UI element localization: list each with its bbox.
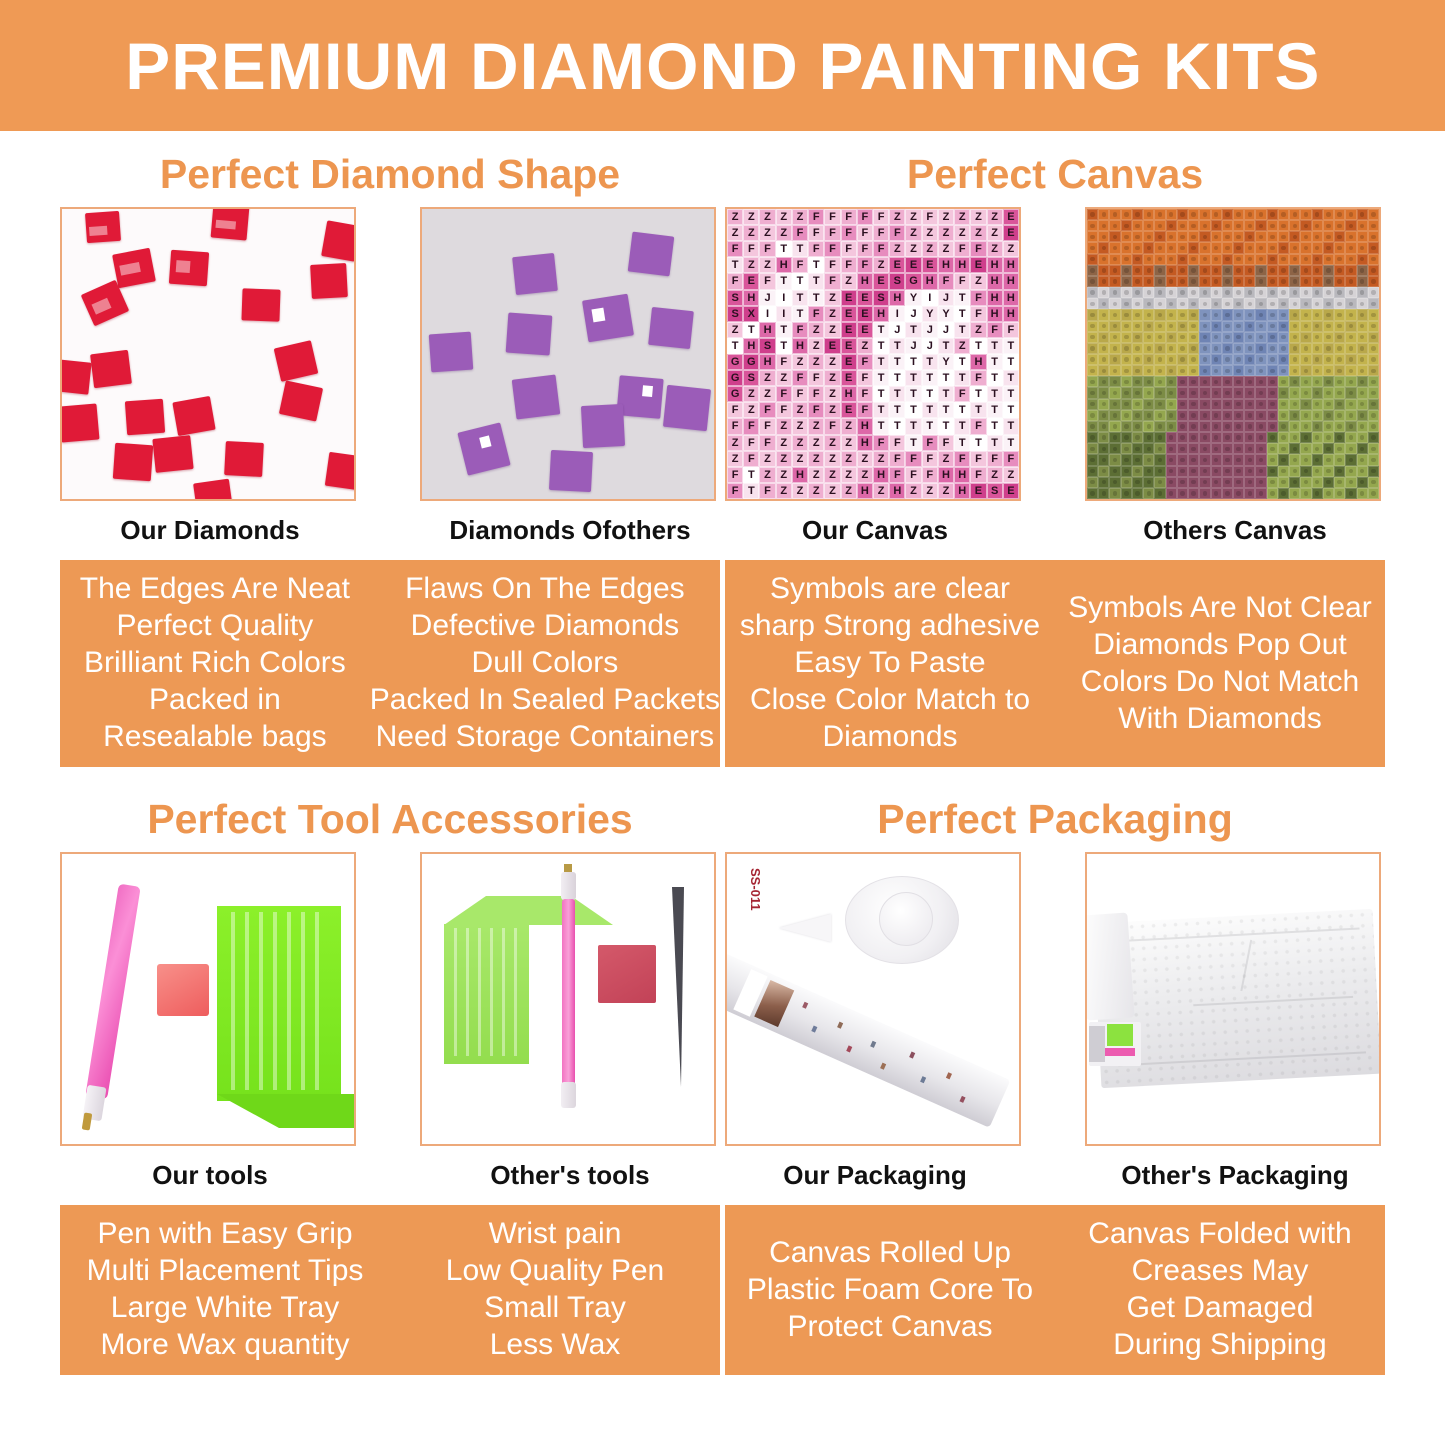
canvas-symbol-cell: Z	[792, 451, 808, 467]
canvas-symbol-cell: F	[970, 306, 986, 322]
muddy-canvas-cell	[1222, 265, 1233, 276]
muddy-canvas-cell	[1368, 209, 1379, 220]
muddy-canvas-cell	[1087, 421, 1098, 432]
muddy-canvas-cell	[1255, 432, 1266, 443]
canvas-symbol-cell: Z	[857, 451, 873, 467]
muddy-canvas-cell	[1199, 477, 1210, 488]
canvas-symbol-cell: Z	[954, 338, 970, 354]
muddy-canvas-cell	[1278, 220, 1289, 231]
muddy-canvas-cell	[1143, 410, 1154, 421]
muddy-canvas-cell	[1166, 287, 1177, 298]
muddy-canvas-cell	[1323, 209, 1334, 220]
muddy-canvas-cell	[1154, 488, 1165, 499]
canvas-symbol-cell: F	[954, 386, 970, 402]
muddy-canvas-cell	[1132, 254, 1143, 265]
muddy-canvas-cell	[1132, 209, 1143, 220]
muddy-canvas-cell	[1222, 421, 1233, 432]
muddy-canvas-cell	[1121, 254, 1132, 265]
canvas-symbol-cell: T	[970, 435, 986, 451]
canvas-symbol-cell: T	[938, 370, 954, 386]
canvas-symbol-cell: T	[954, 354, 970, 370]
desc-col-ours: The Edges Are Neat Perfect Quality Brill…	[60, 570, 370, 755]
muddy-canvas-cell	[1255, 443, 1266, 454]
canvas-symbol-cell: Z	[970, 209, 986, 225]
muddy-canvas-cell	[1244, 298, 1255, 309]
muddy-canvas-cell	[1345, 265, 1356, 276]
muddy-canvas-cell	[1289, 265, 1300, 276]
muddy-canvas-cell	[1289, 421, 1300, 432]
canvas-symbol-cell: Z	[938, 241, 954, 257]
desc-line: Canvas Folded with	[1055, 1215, 1385, 1252]
canvas-symbol-cell: T	[743, 467, 759, 483]
muddy-canvas-cell	[1368, 454, 1379, 465]
muddy-canvas-cell	[1244, 399, 1255, 410]
muddy-canvas-cell	[1368, 254, 1379, 265]
muddy-canvas-cell	[1121, 365, 1132, 376]
muddy-canvas-cell	[1255, 298, 1266, 309]
canvas-symbol-cell: F	[905, 467, 921, 483]
canvas-symbol-cell: I	[776, 290, 792, 306]
muddy-canvas-cell	[1334, 276, 1345, 287]
canvas-symbol-cell: Z	[759, 467, 775, 483]
canvas-symbol-cell: F	[970, 418, 986, 434]
canvas-symbol-cell: Z	[824, 483, 840, 499]
red-drill	[90, 350, 132, 388]
muddy-canvas-cell	[1098, 321, 1109, 332]
muddy-canvas-cell	[1255, 376, 1266, 387]
muddy-canvas-cell	[1154, 265, 1165, 276]
muddy-canvas-cell	[1323, 443, 1334, 454]
muddy-canvas-cell	[1323, 376, 1334, 387]
muddy-canvas-cell	[1121, 376, 1132, 387]
canvas-symbol-cell: T	[743, 483, 759, 499]
muddy-canvas-cell	[1300, 410, 1311, 421]
muddy-canvas-cell	[1154, 309, 1165, 320]
muddy-canvas-cell	[1098, 354, 1109, 365]
photo-others-canvas	[1085, 207, 1381, 501]
muddy-canvas-cell	[1109, 488, 1120, 499]
canvas-symbol-cell: Z	[824, 451, 840, 467]
canvas-symbol-cell: Z	[792, 209, 808, 225]
muddy-canvas-cell	[1188, 220, 1199, 231]
muddy-symbol-grid	[1087, 209, 1379, 499]
muddy-canvas-cell	[1244, 443, 1255, 454]
muddy-canvas-cell	[1267, 488, 1278, 499]
muddy-canvas-cell	[1188, 254, 1199, 265]
muddy-canvas-cell	[1166, 220, 1177, 231]
canvas-symbol-cell: J	[905, 306, 921, 322]
muddy-canvas-cell	[1109, 387, 1120, 398]
canvas-symbol-cell: T	[1003, 402, 1019, 418]
muddy-canvas-cell	[1312, 332, 1323, 343]
muddy-canvas-cell	[1132, 421, 1143, 432]
muddy-canvas-cell	[1300, 220, 1311, 231]
muddy-canvas-cell	[1278, 410, 1289, 421]
muddy-canvas-cell	[1244, 365, 1255, 376]
muddy-canvas-cell	[1109, 309, 1120, 320]
canvas-symbol-cell: Z	[970, 273, 986, 289]
muddy-canvas-cell	[1334, 209, 1345, 220]
canvas-symbol-cell: Z	[970, 225, 986, 241]
muddy-canvas-cell	[1278, 231, 1289, 242]
muddy-canvas-cell	[1267, 343, 1278, 354]
canvas-symbol-cell: S	[889, 273, 905, 289]
canvas-symbol-cell: E	[841, 290, 857, 306]
canvas-symbol-cell: Z	[938, 225, 954, 241]
muddy-canvas-cell	[1109, 209, 1120, 220]
canvas-symbol-cell: H	[987, 306, 1003, 322]
muddy-canvas-cell	[1345, 354, 1356, 365]
muddy-canvas-cell	[1211, 276, 1222, 287]
muddy-canvas-cell	[1345, 309, 1356, 320]
muddy-canvas-cell	[1289, 309, 1300, 320]
canvas-symbol-cell: F	[824, 257, 840, 273]
red-drill	[193, 479, 233, 501]
red-drill	[113, 443, 153, 482]
muddy-canvas-cell	[1267, 399, 1278, 410]
canvas-symbol-cell: F	[759, 483, 775, 499]
muddy-canvas-cell	[1087, 298, 1098, 309]
muddy-canvas-cell	[1368, 443, 1379, 454]
muddy-canvas-cell	[1177, 477, 1188, 488]
muddy-canvas-cell	[1255, 220, 1266, 231]
canvas-symbol-cell: F	[970, 241, 986, 257]
muddy-canvas-cell	[1244, 410, 1255, 421]
muddy-canvas-cell	[1132, 287, 1143, 298]
muddy-canvas-cell	[1289, 298, 1300, 309]
muddy-canvas-cell	[1255, 387, 1266, 398]
muddy-canvas-cell	[1357, 343, 1368, 354]
photo-col-our-packaging: SS-011 Our Packaging	[725, 852, 1025, 1191]
muddy-canvas-cell	[1244, 309, 1255, 320]
muddy-canvas-cell	[1345, 477, 1356, 488]
muddy-canvas-cell	[1345, 343, 1356, 354]
muddy-canvas-cell	[1154, 354, 1165, 365]
muddy-canvas-cell	[1222, 332, 1233, 343]
section-title-canvas: Perfect Canvas	[725, 149, 1385, 199]
canvas-symbol-cell: Z	[905, 225, 921, 241]
muddy-canvas-cell	[1087, 399, 1098, 410]
muddy-canvas-cell	[1098, 242, 1109, 253]
canvas-symbol-cell: Z	[792, 435, 808, 451]
muddy-canvas-cell	[1143, 432, 1154, 443]
muddy-canvas-cell	[1087, 276, 1098, 287]
muddy-canvas-cell	[1334, 387, 1345, 398]
muddy-canvas-cell	[1121, 421, 1132, 432]
muddy-canvas-cell	[1211, 410, 1222, 421]
tweezers	[672, 887, 684, 1087]
canvas-symbol-cell: E	[743, 273, 759, 289]
muddy-canvas-cell	[1109, 466, 1120, 477]
muddy-canvas-cell	[1334, 220, 1345, 231]
muddy-canvas-cell	[1132, 332, 1143, 343]
muddy-canvas-cell	[1278, 343, 1289, 354]
muddy-canvas-cell	[1154, 343, 1165, 354]
canvas-symbol-cell: H	[987, 257, 1003, 273]
muddy-canvas-cell	[1087, 242, 1098, 253]
desc-line: Pen with Easy Grip	[60, 1215, 390, 1252]
desc-band-diamond-shape: The Edges Are Neat Perfect Quality Brill…	[60, 560, 720, 767]
muddy-canvas-cell	[1345, 242, 1356, 253]
muddy-canvas-cell	[1109, 443, 1120, 454]
muddy-canvas-cell	[1267, 410, 1278, 421]
muddy-canvas-cell	[1154, 231, 1165, 242]
muddy-canvas-cell	[1368, 309, 1379, 320]
muddy-canvas-cell	[1211, 343, 1222, 354]
muddy-canvas-cell	[1244, 354, 1255, 365]
muddy-canvas-cell	[1211, 209, 1222, 220]
muddy-canvas-cell	[1255, 276, 1266, 287]
muddy-canvas-cell	[1345, 454, 1356, 465]
canvas-symbol-cell: T	[938, 338, 954, 354]
muddy-canvas-cell	[1177, 254, 1188, 265]
muddy-canvas-cell	[1211, 254, 1222, 265]
muddy-canvas-cell	[1199, 354, 1210, 365]
muddy-canvas-cell	[1345, 376, 1356, 387]
canvas-symbol-cell: G	[727, 370, 743, 386]
photo-caption: Our Diamonds	[60, 515, 360, 546]
muddy-canvas-cell	[1166, 443, 1177, 454]
canvas-symbol-cell: F	[727, 402, 743, 418]
muddy-canvas-cell	[1211, 432, 1222, 443]
muddy-canvas-cell	[1087, 265, 1098, 276]
canvas-symbol-cell: F	[759, 273, 775, 289]
muddy-canvas-cell	[1289, 209, 1300, 220]
muddy-canvas-cell	[1143, 254, 1154, 265]
muddy-canvas-cell	[1289, 488, 1300, 499]
muddy-canvas-cell	[1323, 287, 1334, 298]
muddy-canvas-cell	[1087, 365, 1098, 376]
canvas-symbol-cell: I	[889, 306, 905, 322]
canvas-symbol-cell: H	[792, 467, 808, 483]
canvas-symbol-cell: Z	[841, 418, 857, 434]
muddy-canvas-cell	[1222, 466, 1233, 477]
red-drill	[172, 396, 215, 436]
muddy-canvas-cell	[1368, 242, 1379, 253]
muddy-canvas-cell	[1368, 298, 1379, 309]
canvas-symbol-cell: F	[727, 241, 743, 257]
photo-others-packaging	[1085, 852, 1381, 1146]
muddy-canvas-cell	[1312, 376, 1323, 387]
muddy-canvas-cell	[1300, 298, 1311, 309]
muddy-canvas-cell	[1267, 477, 1278, 488]
muddy-canvas-cell	[1334, 309, 1345, 320]
muddy-canvas-cell	[1312, 410, 1323, 421]
canvas-symbol-cell: F	[922, 209, 938, 225]
canvas-symbol-cell: F	[792, 386, 808, 402]
muddy-canvas-cell	[1323, 399, 1334, 410]
canvas-symbol-cell: Z	[727, 225, 743, 241]
muddy-canvas-cell	[1154, 410, 1165, 421]
canvas-symbol-cell: F	[759, 418, 775, 434]
canvas-symbol-cell: F	[873, 225, 889, 241]
desc-col-others: Symbols Are Not Clear Diamonds Pop Out C…	[1055, 570, 1385, 755]
canvas-symbol-cell: Z	[776, 225, 792, 241]
desc-line: Need Storage Containers	[370, 718, 720, 755]
desc-line: Small Tray	[390, 1289, 720, 1326]
canvas-symbol-cell: Z	[824, 354, 840, 370]
muddy-canvas-cell	[1312, 454, 1323, 465]
muddy-canvas-cell	[1345, 488, 1356, 499]
muddy-canvas-cell	[1087, 432, 1098, 443]
muddy-canvas-cell	[1289, 466, 1300, 477]
muddy-canvas-cell	[1345, 410, 1356, 421]
canvas-symbol-cell: H	[857, 273, 873, 289]
muddy-canvas-cell	[1211, 354, 1222, 365]
canvas-symbol-cell: F	[824, 418, 840, 434]
muddy-canvas-cell	[1312, 298, 1323, 309]
muddy-canvas-cell	[1312, 421, 1323, 432]
muddy-canvas-cell	[1278, 432, 1289, 443]
desc-col-others: Flaws On The Edges Defective Diamonds Du…	[370, 570, 720, 755]
canvas-symbol-cell: F	[1003, 451, 1019, 467]
desc-line: sharp Strong adhesive	[725, 607, 1055, 644]
muddy-canvas-cell	[1109, 376, 1120, 387]
muddy-canvas-cell	[1244, 242, 1255, 253]
canvas-symbol-cell: Z	[873, 483, 889, 499]
muddy-canvas-cell	[1121, 242, 1132, 253]
muddy-canvas-cell	[1244, 231, 1255, 242]
muddy-canvas-cell	[1368, 343, 1379, 354]
canvas-symbol-cell: H	[889, 290, 905, 306]
muddy-canvas-cell	[1323, 466, 1334, 477]
muddy-canvas-cell	[1368, 376, 1379, 387]
muddy-canvas-cell	[1267, 220, 1278, 231]
canvas-symbol-cell: I	[776, 306, 792, 322]
muddy-canvas-cell	[1177, 332, 1188, 343]
muddy-canvas-cell	[1188, 309, 1199, 320]
desc-col-ours: Canvas Rolled Up Plastic Foam Core To Pr…	[725, 1215, 1055, 1363]
photo-caption: Our Packaging	[725, 1160, 1025, 1191]
muddy-canvas-cell	[1357, 265, 1368, 276]
muddy-canvas-cell	[1222, 376, 1233, 387]
muddy-canvas-cell	[1233, 209, 1244, 220]
muddy-canvas-cell	[1166, 454, 1177, 465]
muddy-canvas-cell	[1222, 209, 1233, 220]
muddy-canvas-cell	[1233, 410, 1244, 421]
muddy-canvas-cell	[1255, 209, 1266, 220]
muddy-canvas-cell	[1121, 399, 1132, 410]
canvas-symbol-cell: Y	[938, 354, 954, 370]
muddy-canvas-cell	[1087, 343, 1098, 354]
muddy-canvas-cell	[1109, 477, 1120, 488]
photo-our-tools	[60, 852, 356, 1146]
muddy-canvas-cell	[1154, 443, 1165, 454]
canvas-symbol-cell: T	[727, 338, 743, 354]
desc-line: Wrist pain	[390, 1215, 720, 1252]
muddy-canvas-cell	[1109, 220, 1120, 231]
canvas-symbol-cell: H	[889, 483, 905, 499]
canvas-symbol-cell: S	[727, 290, 743, 306]
muddy-canvas-cell	[1334, 477, 1345, 488]
canvas-symbol-cell: E	[922, 257, 938, 273]
muddy-canvas-cell	[1143, 454, 1154, 465]
muddy-canvas-cell	[1188, 421, 1199, 432]
canvas-symbol-cell: E	[824, 338, 840, 354]
canvas-symbol-cell: H	[954, 467, 970, 483]
muddy-canvas-cell	[1121, 332, 1132, 343]
muddy-canvas-cell	[1267, 443, 1278, 454]
muddy-canvas-cell	[1166, 298, 1177, 309]
canvas-symbol-cell: E	[841, 306, 857, 322]
muddy-canvas-cell	[1098, 298, 1109, 309]
muddy-canvas-cell	[1166, 265, 1177, 276]
muddy-canvas-cell	[1121, 343, 1132, 354]
canvas-symbol-cell: T	[792, 306, 808, 322]
muddy-canvas-cell	[1300, 209, 1311, 220]
canvas-symbol-cell: F	[873, 209, 889, 225]
muddy-canvas-cell	[1334, 443, 1345, 454]
muddy-canvas-cell	[1267, 242, 1278, 253]
muddy-canvas-cell	[1177, 231, 1188, 242]
muddy-canvas-cell	[1143, 399, 1154, 410]
photo-row-canvas: ZZZZZFFFFFZZFZZZZEZZZZFFFFFFFZZZZZZEFFFT…	[725, 207, 1385, 546]
muddy-canvas-cell	[1199, 365, 1210, 376]
muddy-canvas-cell	[1154, 220, 1165, 231]
canvas-symbol-cell: S	[759, 338, 775, 354]
muddy-canvas-cell	[1154, 466, 1165, 477]
section-title-tools: Perfect Tool Accessories	[60, 794, 720, 844]
muddy-canvas-cell	[1121, 443, 1132, 454]
muddy-canvas-cell	[1166, 488, 1177, 499]
muddy-canvas-cell	[1098, 376, 1109, 387]
muddy-canvas-cell	[1199, 209, 1210, 220]
muddy-canvas-cell	[1278, 387, 1289, 398]
muddy-canvas-cell	[1132, 365, 1143, 376]
muddy-canvas-cell	[1143, 309, 1154, 320]
photo-col-our-diamonds: Our Diamonds	[60, 207, 360, 546]
canvas-symbol-cell: Z	[938, 451, 954, 467]
desc-band-packaging: Canvas Rolled Up Plastic Foam Core To Pr…	[725, 1205, 1385, 1375]
muddy-canvas-cell	[1300, 309, 1311, 320]
muddy-canvas-cell	[1357, 287, 1368, 298]
muddy-canvas-cell	[1222, 309, 1233, 320]
muddy-canvas-cell	[1177, 321, 1188, 332]
muddy-canvas-cell	[1278, 488, 1289, 499]
muddy-canvas-cell	[1154, 209, 1165, 220]
muddy-canvas-cell	[1300, 332, 1311, 343]
muddy-canvas-cell	[1177, 354, 1188, 365]
muddy-canvas-cell	[1132, 265, 1143, 276]
muddy-canvas-cell	[1087, 332, 1098, 343]
muddy-canvas-cell	[1132, 488, 1143, 499]
muddy-canvas-cell	[1368, 477, 1379, 488]
muddy-canvas-cell	[1188, 387, 1199, 398]
muddy-canvas-cell	[1143, 220, 1154, 231]
muddy-canvas-cell	[1143, 443, 1154, 454]
canvas-symbol-cell: F	[792, 370, 808, 386]
infographic-page: PREMIUM DIAMOND PAINTING KITS Perfect Di…	[0, 0, 1445, 1445]
photo-our-canvas: ZZZZZFFFFFZZFZZZZEZZZZFFFFFFFZZZZZZEFFFT…	[725, 207, 1021, 501]
muddy-canvas-cell	[1222, 354, 1233, 365]
muddy-canvas-cell	[1109, 343, 1120, 354]
canvas-symbol-cell: Z	[889, 241, 905, 257]
muddy-canvas-cell	[1357, 421, 1368, 432]
canvas-symbol-cell: T	[938, 402, 954, 418]
canvas-symbol-cell: Z	[808, 338, 824, 354]
muddy-canvas-cell	[1121, 410, 1132, 421]
photo-our-packaging: SS-011	[725, 852, 1021, 1146]
muddy-canvas-cell	[1289, 354, 1300, 365]
muddy-canvas-cell	[1121, 220, 1132, 231]
muddy-canvas-cell	[1323, 242, 1334, 253]
muddy-canvas-cell	[1255, 265, 1266, 276]
muddy-canvas-cell	[1087, 454, 1098, 465]
canvas-symbol-cell: E	[905, 257, 921, 273]
muddy-canvas-cell	[1323, 231, 1334, 242]
small-green-tray	[444, 924, 529, 1064]
purple-drill	[549, 450, 593, 492]
